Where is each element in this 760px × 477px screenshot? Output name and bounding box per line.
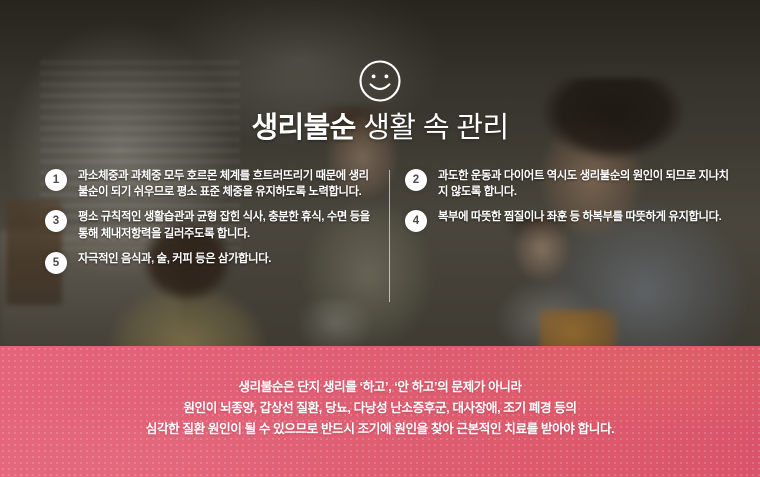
footer-message: 생리불순은 단지 생리를 ‘하고’, ‘안 하고’의 문제가 아니라 원인이 뇌…: [0, 346, 760, 440]
tip-text-5: 자극적인 음식과, 술, 커피 등은 삼가합니다.: [78, 251, 271, 267]
footer-line-2: 원인이 뇌종양, 갑상선 질환, 당뇨, 다낭성 난소증후군, 대사장애, 조기…: [0, 398, 760, 419]
tip-item-2: 2 과도한 운동과 다이어트 역시도 생리불순의 원인이 되므로 지나치지 않도…: [405, 168, 735, 200]
tip-badge-4: 4: [405, 210, 427, 232]
footer-band: 생리불순은 단지 생리를 ‘하고’, ‘안 하고’의 문제가 아니라 원인이 뇌…: [0, 346, 760, 477]
footer-line-3: 심각한 질환 원인이 될 수 있으므로 반드시 조기에 원인을 찾아 근본적인 …: [0, 419, 760, 440]
poster-header: 생리불순 생활 속 관리: [0, 0, 760, 145]
footer-line-1: 생리불순은 단지 생리를 ‘하고’, ‘안 하고’의 문제가 아니라: [0, 377, 760, 398]
tip-item-5: 5 자극적인 음식과, 술, 커피 등은 삼가합니다.: [45, 251, 375, 274]
tips-column-right: 2 과도한 운동과 다이어트 역시도 생리불순의 원인이 되므로 지나치지 않도…: [405, 168, 735, 241]
tip-text-1: 과소체중과 과체중 모두 호르몬 체계를 흐트러뜨리기 때문에 생리불순이 되기…: [78, 168, 375, 200]
tip-badge-1: 1: [45, 169, 67, 191]
page-title-strong: 생리불순: [251, 112, 355, 144]
tip-badge-5: 5: [45, 252, 67, 274]
tips-section: 1 과소체중과 과체중 모두 호르몬 체계를 흐트러뜨리기 때문에 생리불순이 …: [0, 168, 760, 318]
tip-item-3: 3 평소 규칙적인 생활습관과 균형 잡힌 식사, 충분한 휴식, 수면 등을 …: [45, 209, 375, 241]
tip-item-4: 4 복부에 따뜻한 찜질이나 좌훈 등 하복부를 따뜻하게 유지합니다.: [405, 209, 735, 232]
page-title-rest: 생활 속 관리: [356, 112, 509, 144]
column-divider: [389, 170, 390, 302]
tips-column-left: 1 과소체중과 과체중 모두 호르몬 체계를 흐트러뜨리기 때문에 생리불순이 …: [45, 168, 375, 283]
smiley-face-icon: [357, 58, 403, 104]
tip-item-1: 1 과소체중과 과체중 모두 호르몬 체계를 흐트러뜨리기 때문에 생리불순이 …: [45, 168, 375, 200]
tip-badge-3: 3: [45, 210, 67, 232]
tip-text-3: 평소 규칙적인 생활습관과 균형 잡힌 식사, 충분한 휴식, 수면 등을 통해…: [78, 209, 375, 241]
tip-text-4: 복부에 따뜻한 찜질이나 좌훈 등 하복부를 따뜻하게 유지합니다.: [438, 209, 721, 225]
infographic-poster: 생리불순 생활 속 관리 1 과소체중과 과체중 모두 호르몬 체계를 흐트러뜨…: [0, 0, 760, 477]
tip-text-2: 과도한 운동과 다이어트 역시도 생리불순의 원인이 되므로 지나치지 않도록 …: [438, 168, 735, 200]
page-title: 생리불순 생활 속 관리: [0, 111, 760, 145]
tip-badge-2: 2: [405, 169, 427, 191]
